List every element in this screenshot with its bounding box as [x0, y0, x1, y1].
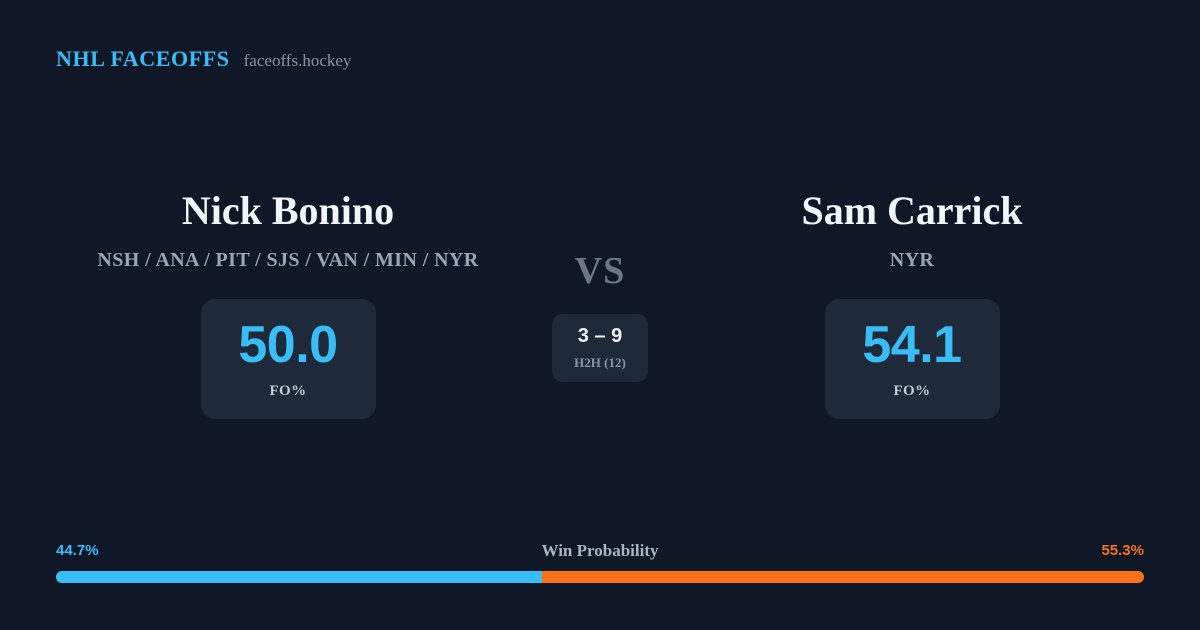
faceoff-percent-label-right: FO% [893, 383, 930, 400]
versus-block: VS 3 – 9 H2H (12) [500, 190, 700, 382]
player-name-left: Nick Bonino [182, 190, 394, 232]
site-domain: faceoffs.hockey [244, 51, 352, 71]
win-probability-left-percent: 44.7% [56, 540, 99, 562]
vs-label: VS [575, 252, 626, 290]
win-probability-right-percent: 55.3% [1101, 540, 1144, 562]
win-probability-bar [56, 571, 1144, 583]
brand-header: NHL FACEOFFS faceoffs.hockey [56, 46, 351, 72]
matchup-section: Nick Bonino NSH / ANA / PIT / SJS / VAN … [0, 190, 1200, 430]
win-probability-section: 44.7% Win Probability 55.3% [56, 540, 1144, 583]
head-to-head-record: 3 – 9 [578, 326, 622, 346]
win-probability-bar-right-fill [542, 571, 1144, 583]
faceoff-percent-label-left: FO% [269, 383, 306, 400]
player-teams-left: NSH / ANA / PIT / SJS / VAN / MIN / NYR [97, 249, 478, 272]
win-probability-title: Win Probability [542, 540, 659, 562]
win-probability-bar-left-fill [56, 571, 542, 583]
player-name-right: Sam Carrick [801, 190, 1022, 232]
player-card-right[interactable]: Sam Carrick NYR 54.1 FO% [682, 190, 1142, 419]
faceoff-stat-card-left: 50.0 FO% [201, 299, 376, 419]
player-teams-right: NYR [890, 249, 935, 272]
faceoff-percent-value-right: 54.1 [862, 319, 961, 371]
faceoff-percent-value-left: 50.0 [238, 319, 337, 371]
head-to-head-card: 3 – 9 H2H (12) [552, 314, 648, 382]
faceoff-stat-card-right: 54.1 FO% [825, 299, 1000, 419]
win-probability-labels: 44.7% Win Probability 55.3% [56, 540, 1144, 562]
site-title: NHL FACEOFFS [56, 46, 230, 72]
head-to-head-label: H2H (12) [574, 355, 626, 371]
player-card-left[interactable]: Nick Bonino NSH / ANA / PIT / SJS / VAN … [58, 190, 518, 419]
